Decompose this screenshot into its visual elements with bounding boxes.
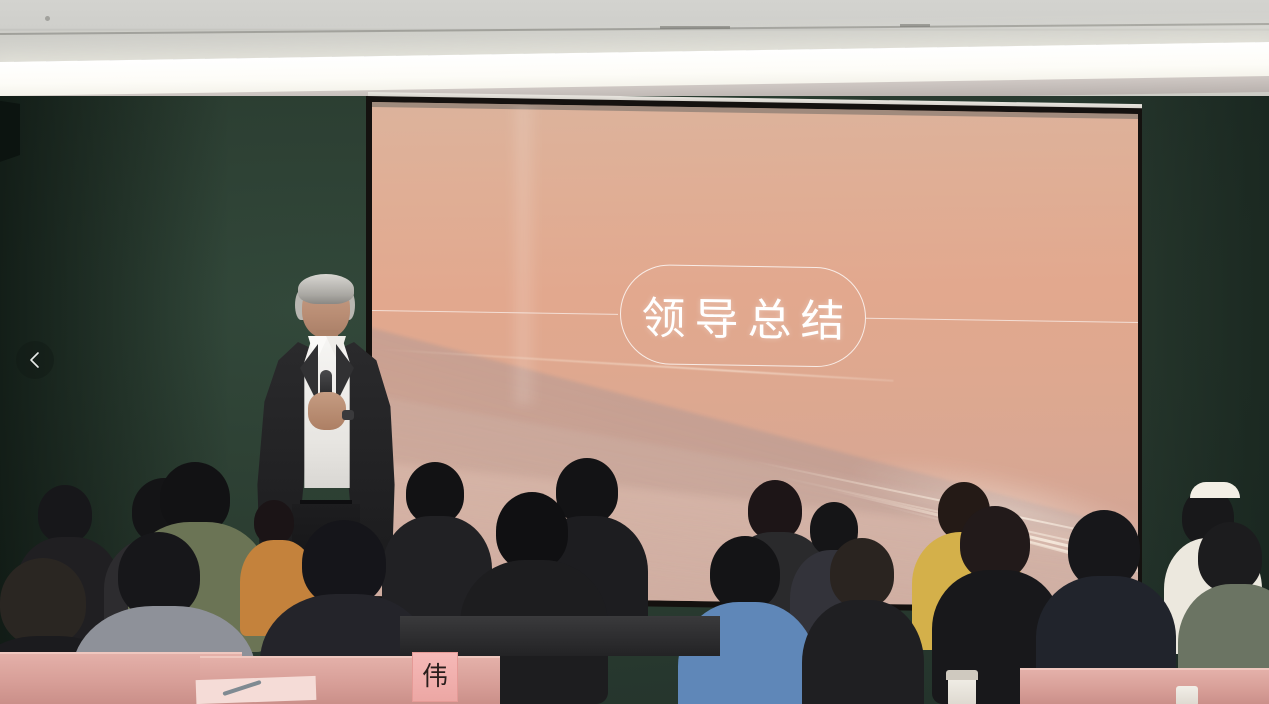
head	[38, 485, 92, 543]
head	[830, 538, 894, 608]
cup-lid	[946, 670, 978, 680]
head	[254, 500, 294, 544]
photo-viewer: 领导总结	[0, 0, 1269, 704]
chevron-left-icon	[28, 351, 42, 369]
head	[960, 506, 1030, 580]
head	[710, 536, 780, 610]
presenter-hair	[298, 274, 354, 304]
head	[748, 480, 802, 540]
head	[496, 492, 568, 570]
head	[0, 558, 86, 646]
head	[556, 458, 618, 524]
name-card-text: 伟	[422, 664, 448, 690]
presenter-hands	[308, 392, 346, 430]
slide-title: 领导总结	[633, 282, 854, 349]
head	[406, 462, 464, 524]
name-card: 伟	[412, 652, 458, 702]
conference-table	[1020, 668, 1269, 704]
ceiling-vent	[660, 26, 730, 29]
chair-back	[400, 616, 720, 656]
ceiling-fixture-dot	[45, 16, 50, 21]
wall-speaker	[0, 100, 20, 164]
presenter-watch	[342, 410, 354, 420]
slide-rule-right	[866, 318, 1138, 323]
ceiling-vent	[900, 24, 930, 27]
torso	[802, 600, 924, 704]
audience: 伟	[0, 440, 1269, 704]
cup	[1176, 686, 1198, 704]
slide-rule-left	[372, 310, 618, 315]
cup	[948, 676, 976, 704]
headband	[1190, 482, 1240, 498]
head	[1198, 522, 1262, 592]
ceiling-seam	[0, 23, 1269, 35]
slide-title-pill: 领导总结	[620, 264, 866, 368]
previous-button[interactable]	[16, 341, 54, 379]
screen-glare	[510, 104, 536, 404]
